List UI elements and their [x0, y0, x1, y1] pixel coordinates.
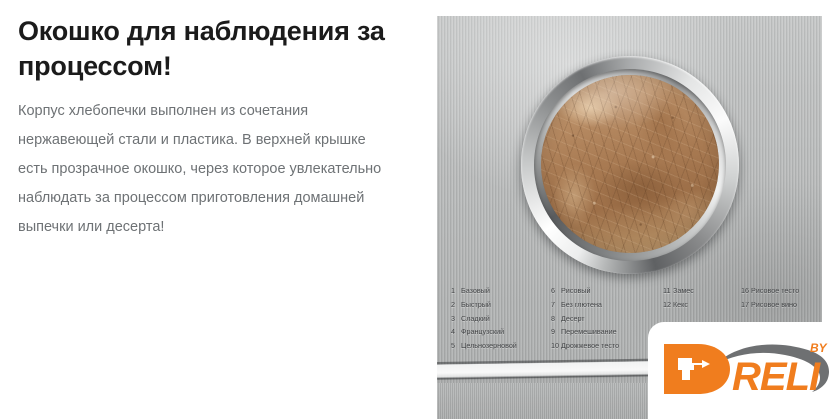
program-label: Французский — [461, 327, 504, 336]
program-item: 8Десерт — [551, 312, 663, 326]
program-item: 1Базовый — [451, 284, 551, 298]
program-number: 1 — [451, 284, 459, 298]
program-number: 3 — [451, 312, 459, 326]
program-item: 6Рисовый — [551, 284, 663, 298]
program-label: Кекс — [673, 300, 688, 309]
program-number: 2 — [451, 298, 459, 312]
program-label: Рисовое тесто — [751, 286, 799, 295]
logo-suffix-by: BY — [810, 341, 828, 355]
program-item: 10Дрожжевое тесто — [551, 339, 663, 353]
window-glass — [541, 75, 719, 253]
body-paragraph: Корпус хлебопечки выполнен из сочетания … — [18, 97, 393, 242]
dreli-logo-icon: RELI BY — [658, 334, 840, 400]
program-item: 9Перемешивание — [551, 325, 663, 339]
brand-logo[interactable]: RELI BY — [648, 322, 840, 419]
program-number: 9 — [551, 325, 559, 339]
program-label: Перемешивание — [561, 327, 617, 336]
program-label: Без глютена — [561, 300, 602, 309]
program-number: 10 — [551, 339, 559, 353]
program-label: Замес — [673, 286, 694, 295]
glass-reflection — [541, 75, 719, 253]
program-item: 17Рисовое вино — [741, 298, 817, 312]
program-item: 5Цельнозерновой — [451, 339, 551, 353]
program-item: 4Французский — [451, 325, 551, 339]
logo-artwork: RELI BY — [658, 334, 840, 400]
page-title: Окошко для наблюдения за процессом! — [18, 14, 408, 83]
program-number: 7 — [551, 298, 559, 312]
program-number: 4 — [451, 325, 459, 339]
program-number: 17 — [741, 298, 749, 312]
program-label: Дрожжевое тесто — [561, 341, 619, 350]
program-item: 12Кекс — [663, 298, 741, 312]
program-column-2: 6Рисовый 7Без глютена 8Десерт 9Перемешив… — [551, 284, 663, 353]
program-label: Сладкий — [461, 314, 490, 323]
program-item: 7Без глютена — [551, 298, 663, 312]
program-label: Цельнозерновой — [461, 341, 517, 350]
viewing-window — [521, 56, 739, 274]
program-column-1: 1Базовый 2Быстрый 3Сладкий 4Французский … — [451, 284, 551, 353]
program-item: 3Сладкий — [451, 312, 551, 326]
logo-letter-d — [664, 344, 730, 394]
program-label: Рисовый — [561, 286, 590, 295]
program-number: 12 — [663, 298, 671, 312]
text-column: Окошко для наблюдения за процессом! Корп… — [18, 14, 408, 242]
program-item: 11Замес — [663, 284, 741, 298]
program-label: Быстрый — [461, 300, 491, 309]
program-label: Десерт — [561, 314, 585, 323]
program-label: Базовый — [461, 286, 490, 295]
logo-wordmark: RELI — [732, 355, 821, 399]
program-number: 16 — [741, 284, 749, 298]
program-item: 16Рисовое тесто — [741, 284, 817, 298]
program-number: 6 — [551, 284, 559, 298]
program-number: 11 — [663, 284, 671, 298]
program-number: 5 — [451, 339, 459, 353]
program-label: Рисовое вино — [751, 300, 797, 309]
promo-banner: Окошко для наблюдения за процессом! Корп… — [0, 0, 840, 419]
program-item: 2Быстрый — [451, 298, 551, 312]
program-number: 8 — [551, 312, 559, 326]
